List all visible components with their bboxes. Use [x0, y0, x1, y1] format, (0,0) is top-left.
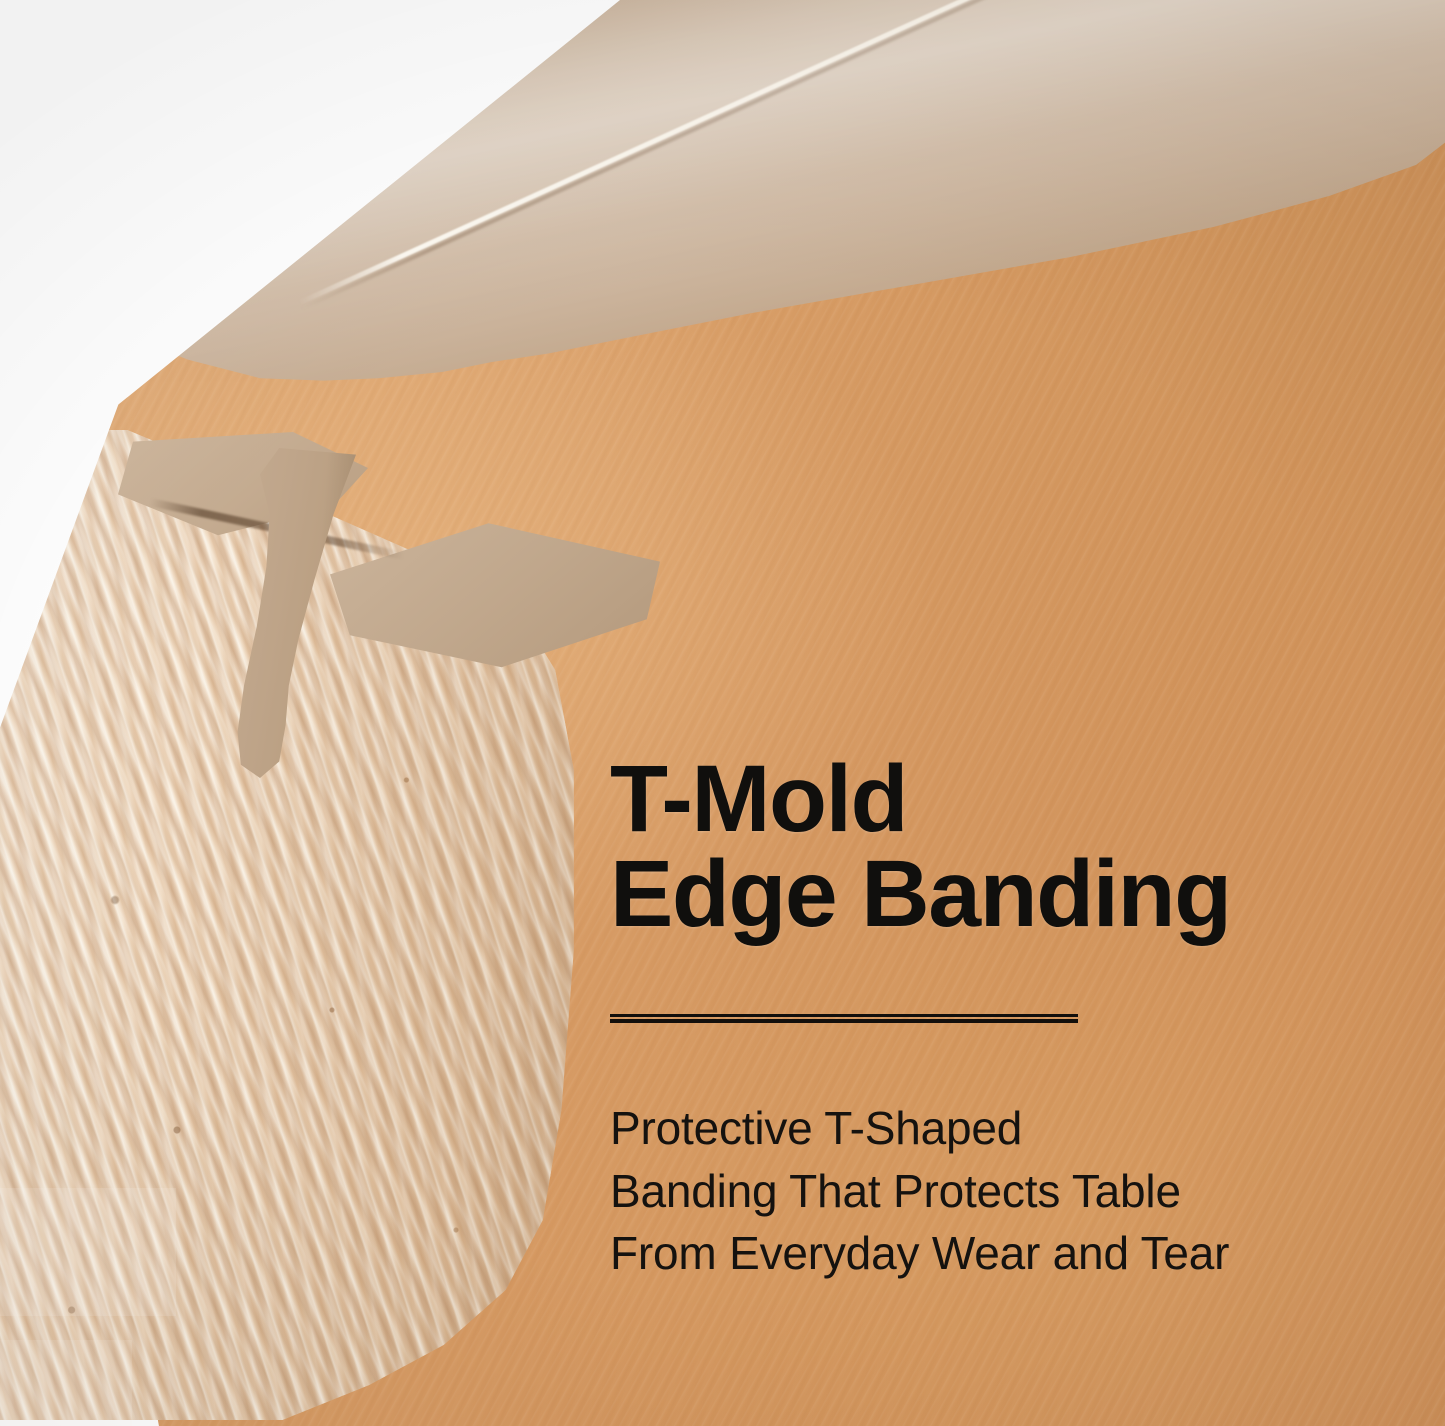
- product-feature-image: T-Mold Edge Banding Protective T-Shaped …: [0, 0, 1445, 1426]
- feature-callout: T-Mold Edge Banding Protective T-Shaped …: [610, 752, 1370, 1285]
- divider-rule: [610, 1014, 1078, 1023]
- subcopy: Protective T-Shaped Banding That Protect…: [610, 1097, 1370, 1285]
- headline: T-Mold Edge Banding: [610, 752, 1370, 942]
